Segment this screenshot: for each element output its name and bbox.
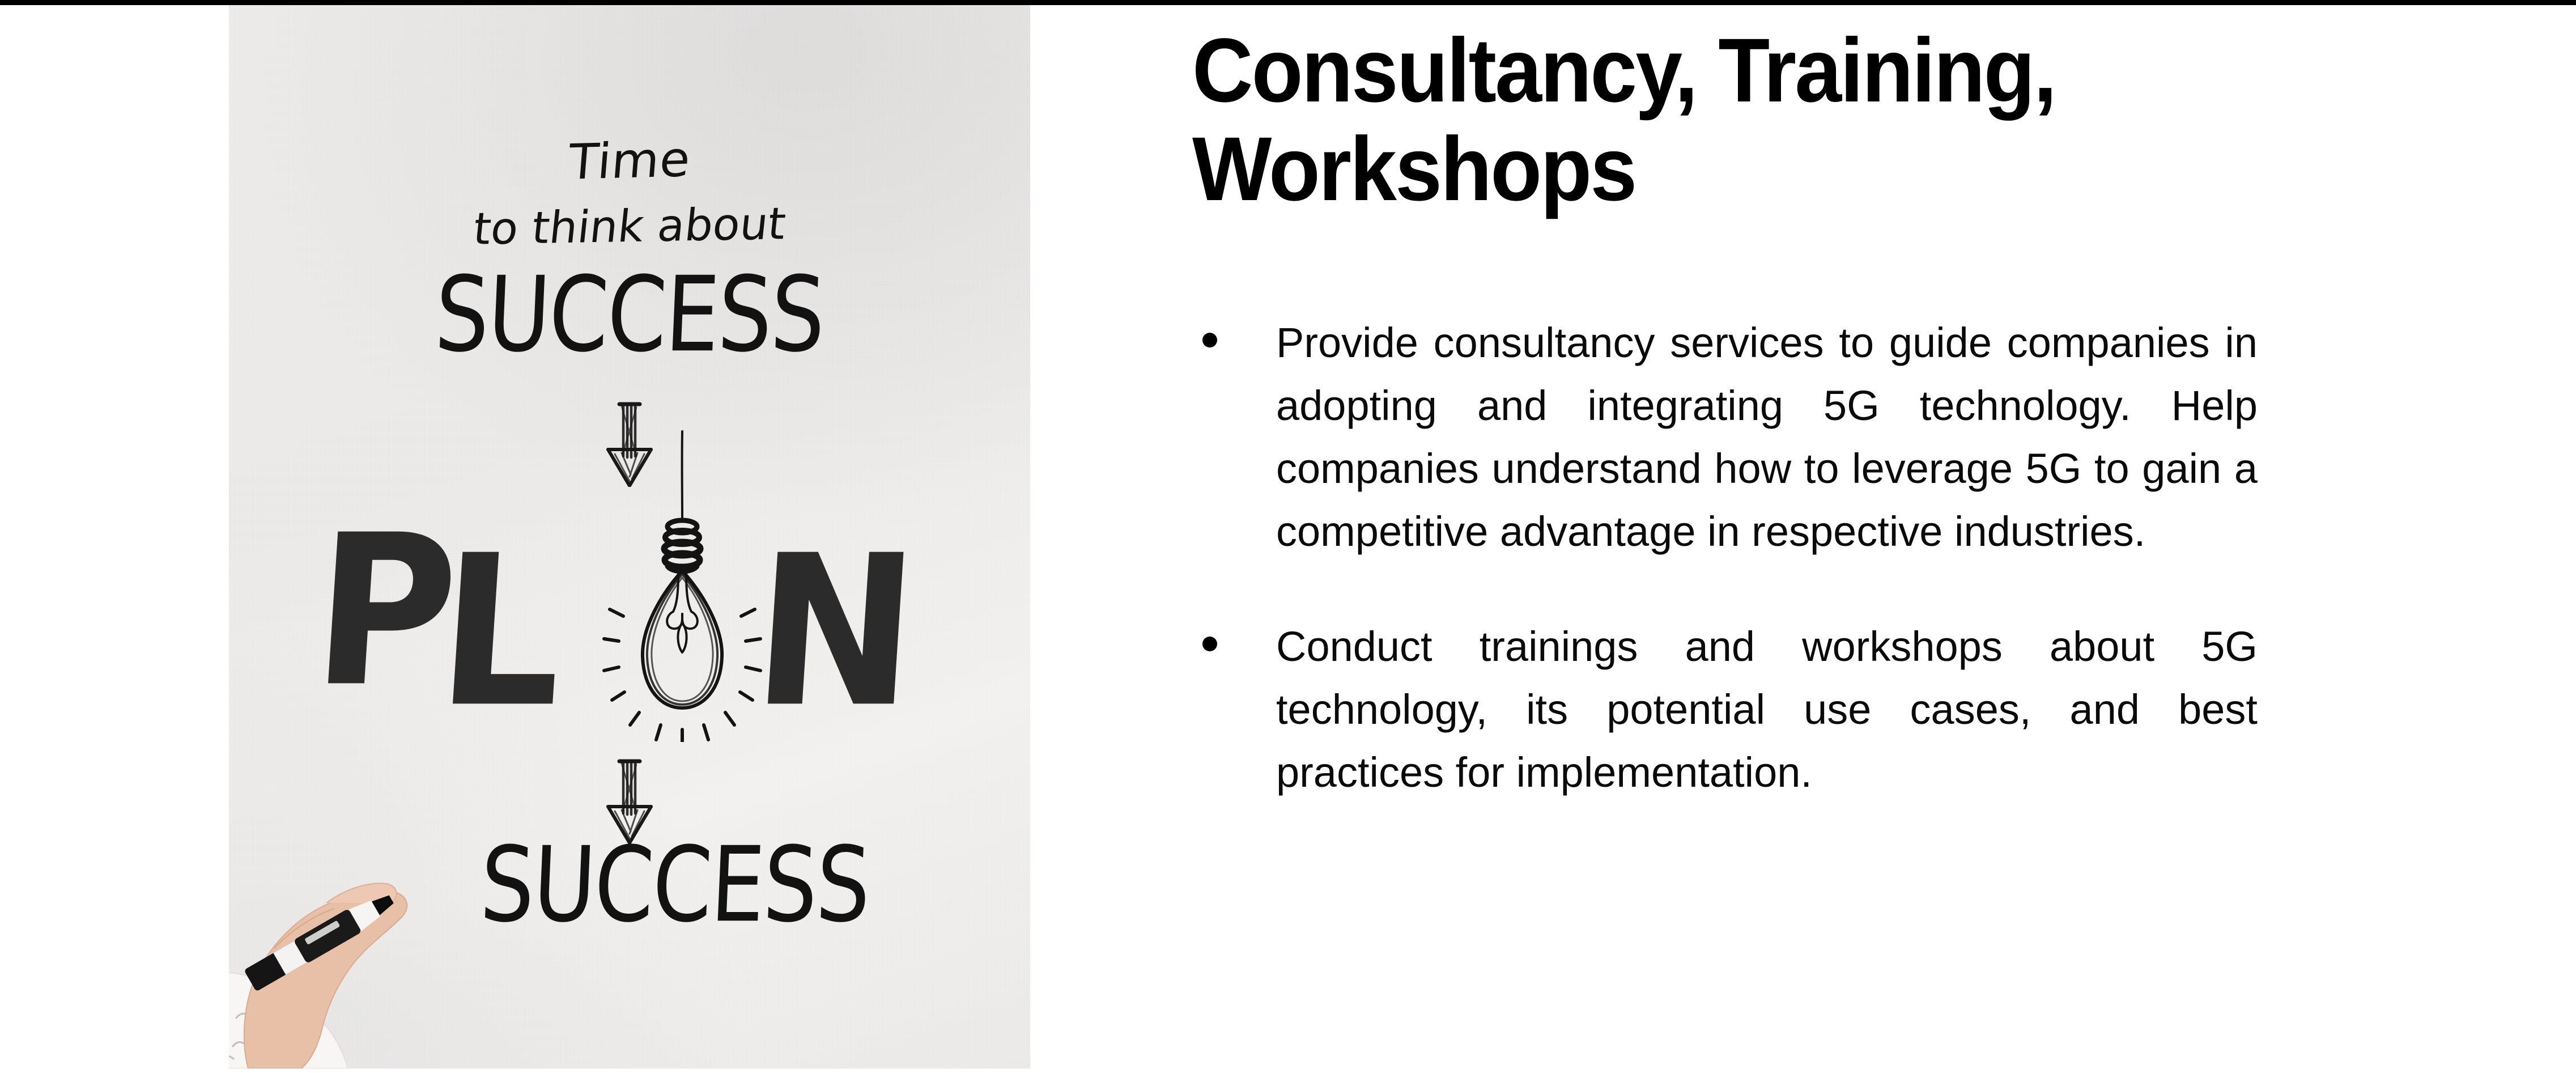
lightbulb-icon bbox=[597, 425, 767, 742]
list-item-text: Provide consultancy services to guide co… bbox=[1276, 311, 2258, 563]
sketch-letter-l: L bbox=[433, 528, 569, 736]
bullet-dot-icon bbox=[1202, 637, 1217, 651]
whiteboard-success-photo: Time to think about SUCCESS P L bbox=[229, 5, 1030, 1068]
list-item: Conduct trainings and workshops about 5G… bbox=[1192, 615, 2258, 804]
bullet-dot-icon bbox=[1202, 333, 1217, 347]
hand-with-marker bbox=[229, 796, 473, 1068]
slide-root: Time to think about SUCCESS P L bbox=[0, 0, 2576, 1073]
sketch-letter-n: N bbox=[748, 528, 923, 736]
content-column: Consultancy, Training, Workshops Provide… bbox=[1192, 5, 2269, 1073]
bullet-list: Provide consultancy services to guide co… bbox=[1192, 311, 2258, 804]
sketch-word-plan: P L bbox=[229, 515, 1030, 753]
list-item-text: Conduct trainings and workshops about 5G… bbox=[1276, 615, 2258, 804]
top-rule-divider bbox=[0, 0, 2576, 5]
list-item: Provide consultancy services to guide co… bbox=[1192, 311, 2258, 563]
page-title: Consultancy, Training, Workshops bbox=[1192, 21, 2120, 219]
handwriting-word-success-top: SUCCESS bbox=[229, 264, 1030, 367]
